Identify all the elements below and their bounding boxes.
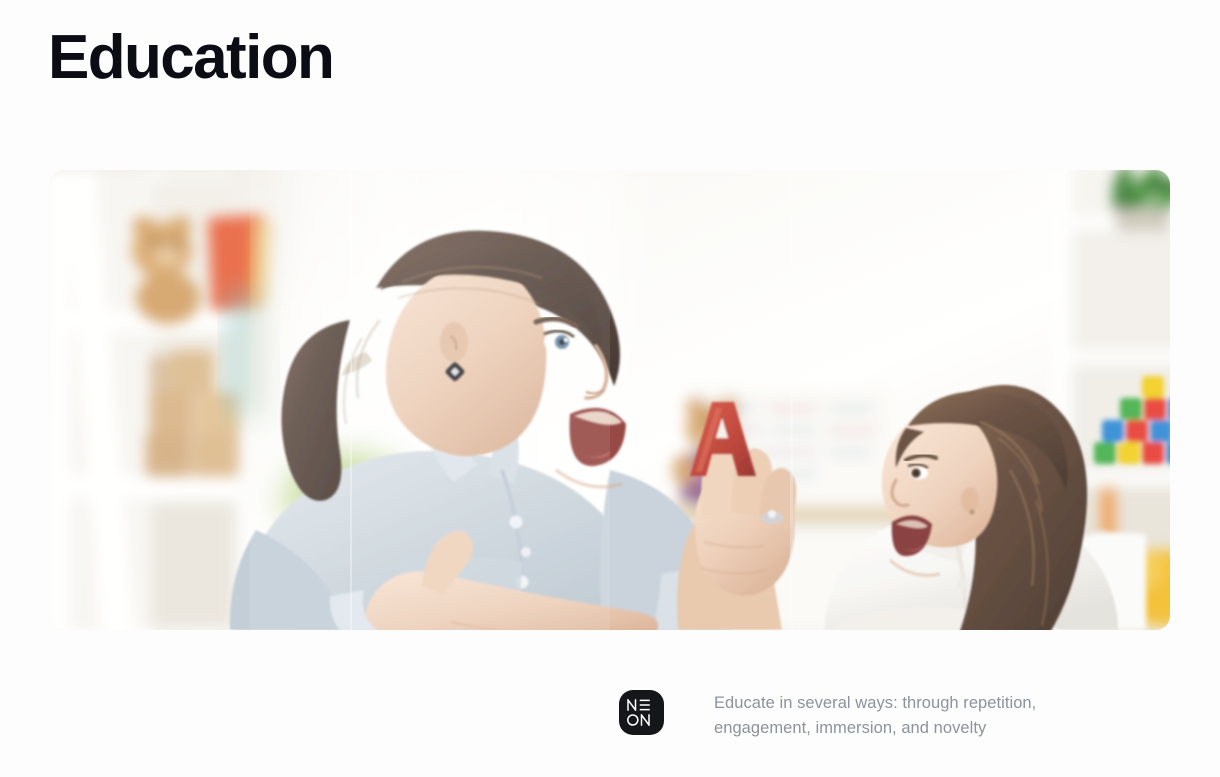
neon-logo-mark	[626, 697, 657, 728]
neon-logo-badge[interactable]	[619, 690, 664, 735]
caption-text: Educate in several ways: through repetit…	[714, 690, 1036, 741]
caption-row: Educate in several ways: through repetit…	[619, 690, 1036, 741]
caption-line-2: engagement, immersion, and novelty	[714, 716, 1036, 741]
hero-photo	[50, 170, 1170, 630]
caption-line-1: Educate in several ways: through repetit…	[714, 691, 1036, 716]
hero-photo-illustration	[50, 170, 1170, 630]
page-title: Education	[48, 27, 333, 89]
